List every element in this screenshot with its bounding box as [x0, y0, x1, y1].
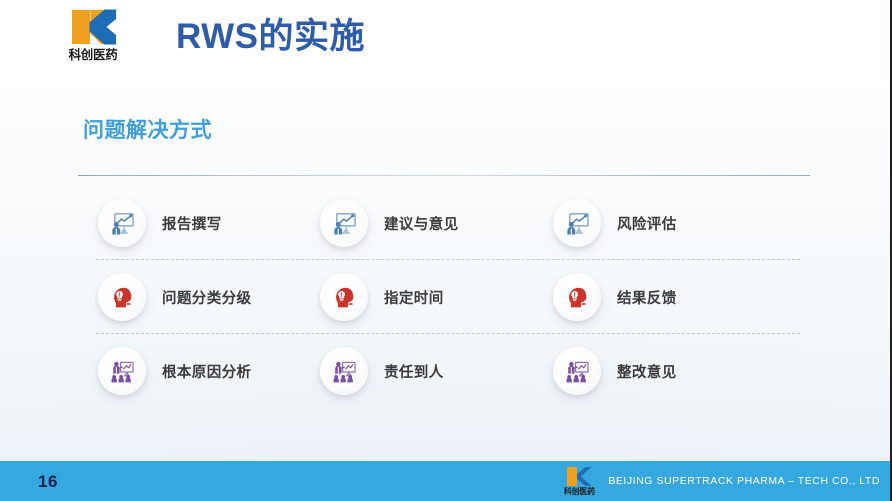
list-item[interactable]: 责任到人: [320, 334, 535, 408]
list-item[interactable]: 建议与意见: [320, 186, 535, 260]
slide-header: 科创医药 RWS的实施: [0, 0, 892, 86]
grid-row: 问题分类分级 指定时间: [0, 260, 892, 334]
grid-row: 根本原因分析: [0, 334, 892, 408]
footer-logo-wordmark: 科创医药: [564, 488, 595, 496]
slide-footer: 16 科创医药 BEIJING SUPERTRACK PHARMA – TECH…: [0, 461, 892, 501]
footer-brand: 科创医药 BEIJING SUPERTRACK PHARMA – TECH CO…: [556, 461, 880, 501]
supertrack-k-logo-icon: [566, 466, 592, 487]
list-item-label: 整改意见: [617, 361, 677, 382]
list-item-label: 指定时间: [384, 287, 444, 308]
brand-logo-wordmark: 科创医药: [69, 49, 118, 62]
heading-divider: [78, 175, 810, 176]
list-item-label: 报告撰写: [162, 213, 222, 234]
presenter-audience-icon: [98, 347, 146, 395]
list-item[interactable]: 问题分类分级: [98, 260, 313, 334]
list-item[interactable]: 报告撰写: [98, 186, 313, 260]
page-number: 16: [38, 472, 58, 492]
list-item[interactable]: 结果反馈: [553, 260, 793, 334]
list-item[interactable]: 风险评估: [553, 186, 793, 260]
head-lightbulb-icon: [320, 273, 368, 321]
list-item-label: 责任到人: [384, 361, 444, 382]
list-item-label: 问题分类分级: [162, 287, 251, 308]
presentation-chart-icon: [553, 199, 601, 247]
list-item-label: 风险评估: [617, 213, 677, 234]
presentation-chart-icon: [320, 199, 368, 247]
list-item-label: 建议与意见: [384, 213, 459, 234]
footer-logo: 科创医药: [556, 462, 602, 500]
presenter-audience-icon: [553, 347, 601, 395]
presentation-slide: 科创医药 RWS的实施 问题解决方式: [0, 0, 892, 501]
presentation-chart-icon: [98, 199, 146, 247]
supertrack-k-logo-icon: [70, 8, 117, 46]
presenter-audience-icon: [320, 347, 368, 395]
list-item[interactable]: 整改意见: [553, 334, 793, 408]
list-item-label: 结果反馈: [617, 287, 677, 308]
brand-logo: 科创医药: [58, 8, 128, 72]
footer-company-name: BEIJING SUPERTRACK PHARMA – TECH CO., LT…: [608, 475, 880, 488]
list-item[interactable]: 根本原因分析: [98, 334, 313, 408]
page-title: RWS的实施: [176, 16, 365, 58]
list-item[interactable]: 指定时间: [320, 260, 535, 334]
list-item-label: 根本原因分析: [162, 361, 251, 382]
head-lightbulb-icon: [98, 273, 146, 321]
section-heading: 问题解决方式: [83, 114, 212, 144]
head-lightbulb-icon: [553, 273, 601, 321]
items-grid: 报告撰写 建议与意见: [0, 186, 892, 408]
grid-row: 报告撰写 建议与意见: [0, 186, 892, 260]
